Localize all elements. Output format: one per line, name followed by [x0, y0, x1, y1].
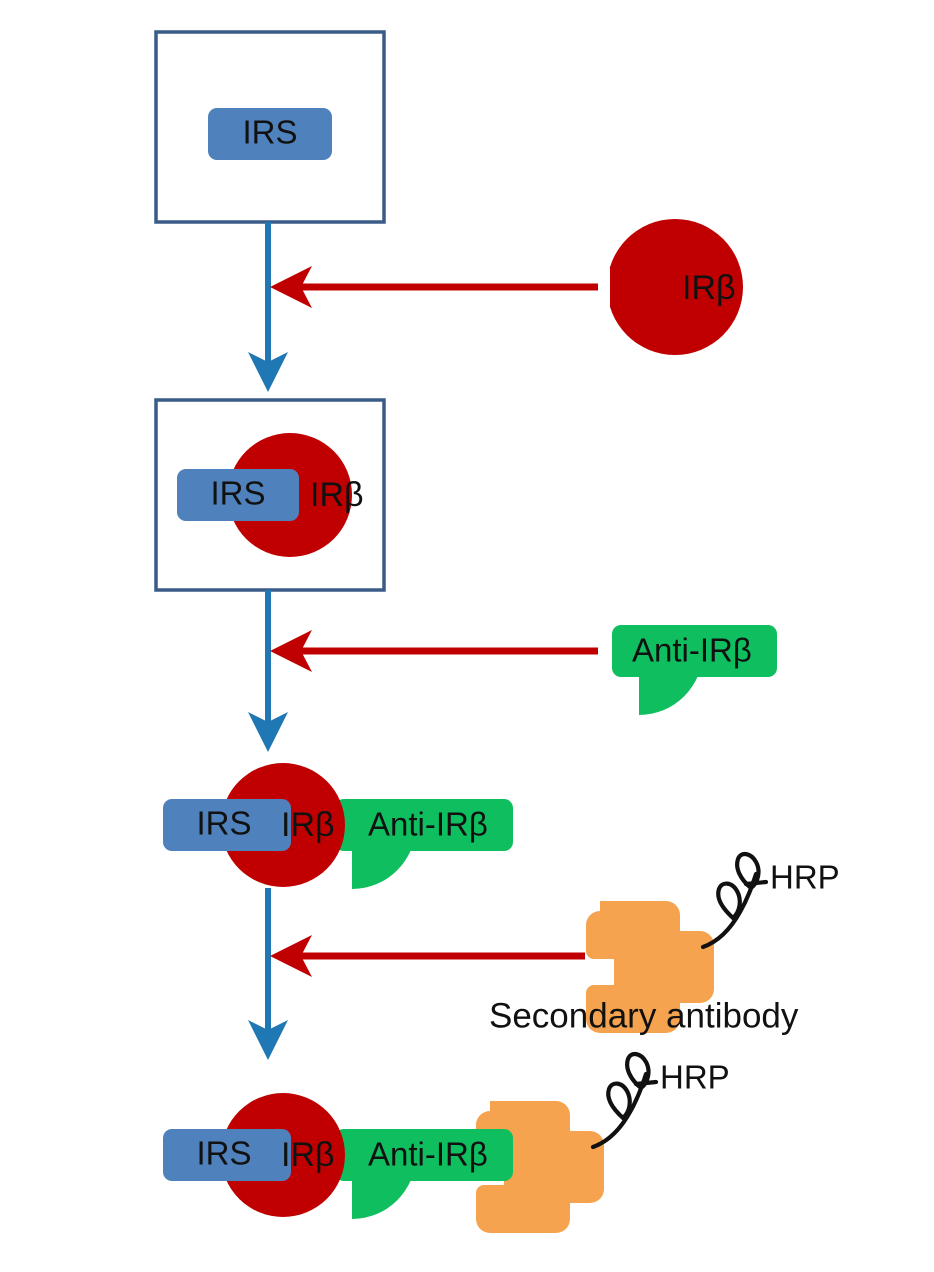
irb-token-free: IRβ — [607, 219, 743, 355]
flow-arrow-1 — [248, 222, 288, 392]
diagram-svg: IRS IRβ IRS IRβ — [0, 0, 934, 1272]
step-4-complex-group: IRS IRβ Anti-IRβ HRP — [163, 1054, 730, 1233]
hrp-label-bound: HRP — [660, 1059, 730, 1096]
reagent-arrow-2 — [270, 630, 598, 672]
anti-irb-token-free: Anti-IRβ — [569, 581, 777, 721]
anti-irb-label-free: Anti-IRβ — [632, 632, 752, 669]
secondary-antibody-label: Secondary antibody — [489, 996, 799, 1035]
irb-label-2: IRβ — [310, 476, 364, 514]
anti-irb-label-3: Anti-IRβ — [368, 806, 488, 843]
secondary-antibody-token-free: HRP Secondary antibody — [489, 854, 840, 1035]
irs-label-3: IRS — [196, 805, 251, 842]
diagram-canvas: IRS IRβ IRS IRβ — [0, 0, 934, 1272]
hrp-tendril-free — [703, 854, 766, 947]
flow-arrow-2 — [248, 590, 288, 752]
hrp-label-free: HRP — [770, 859, 840, 896]
irs-label-2: IRS — [210, 475, 265, 512]
step-3-complex-group: IRS IRβ Anti-IRβ — [163, 755, 513, 895]
irb-label-3: IRβ — [281, 806, 335, 844]
step-2-well-group: IRS IRβ — [156, 400, 384, 590]
hrp-tendril-bound — [593, 1054, 656, 1147]
step-1-well-group: IRS — [156, 32, 384, 222]
irs-label-4: IRS — [196, 1135, 251, 1172]
irb-label-free: IRβ — [682, 269, 736, 307]
flow-arrow-3 — [248, 888, 288, 1060]
irs-label-1: IRS — [242, 114, 297, 151]
irb-label-4: IRβ — [281, 1136, 335, 1174]
reagent-arrow-1 — [270, 266, 598, 308]
anti-irb-label-4: Anti-IRβ — [368, 1136, 488, 1173]
reagent-arrow-3 — [270, 935, 585, 977]
